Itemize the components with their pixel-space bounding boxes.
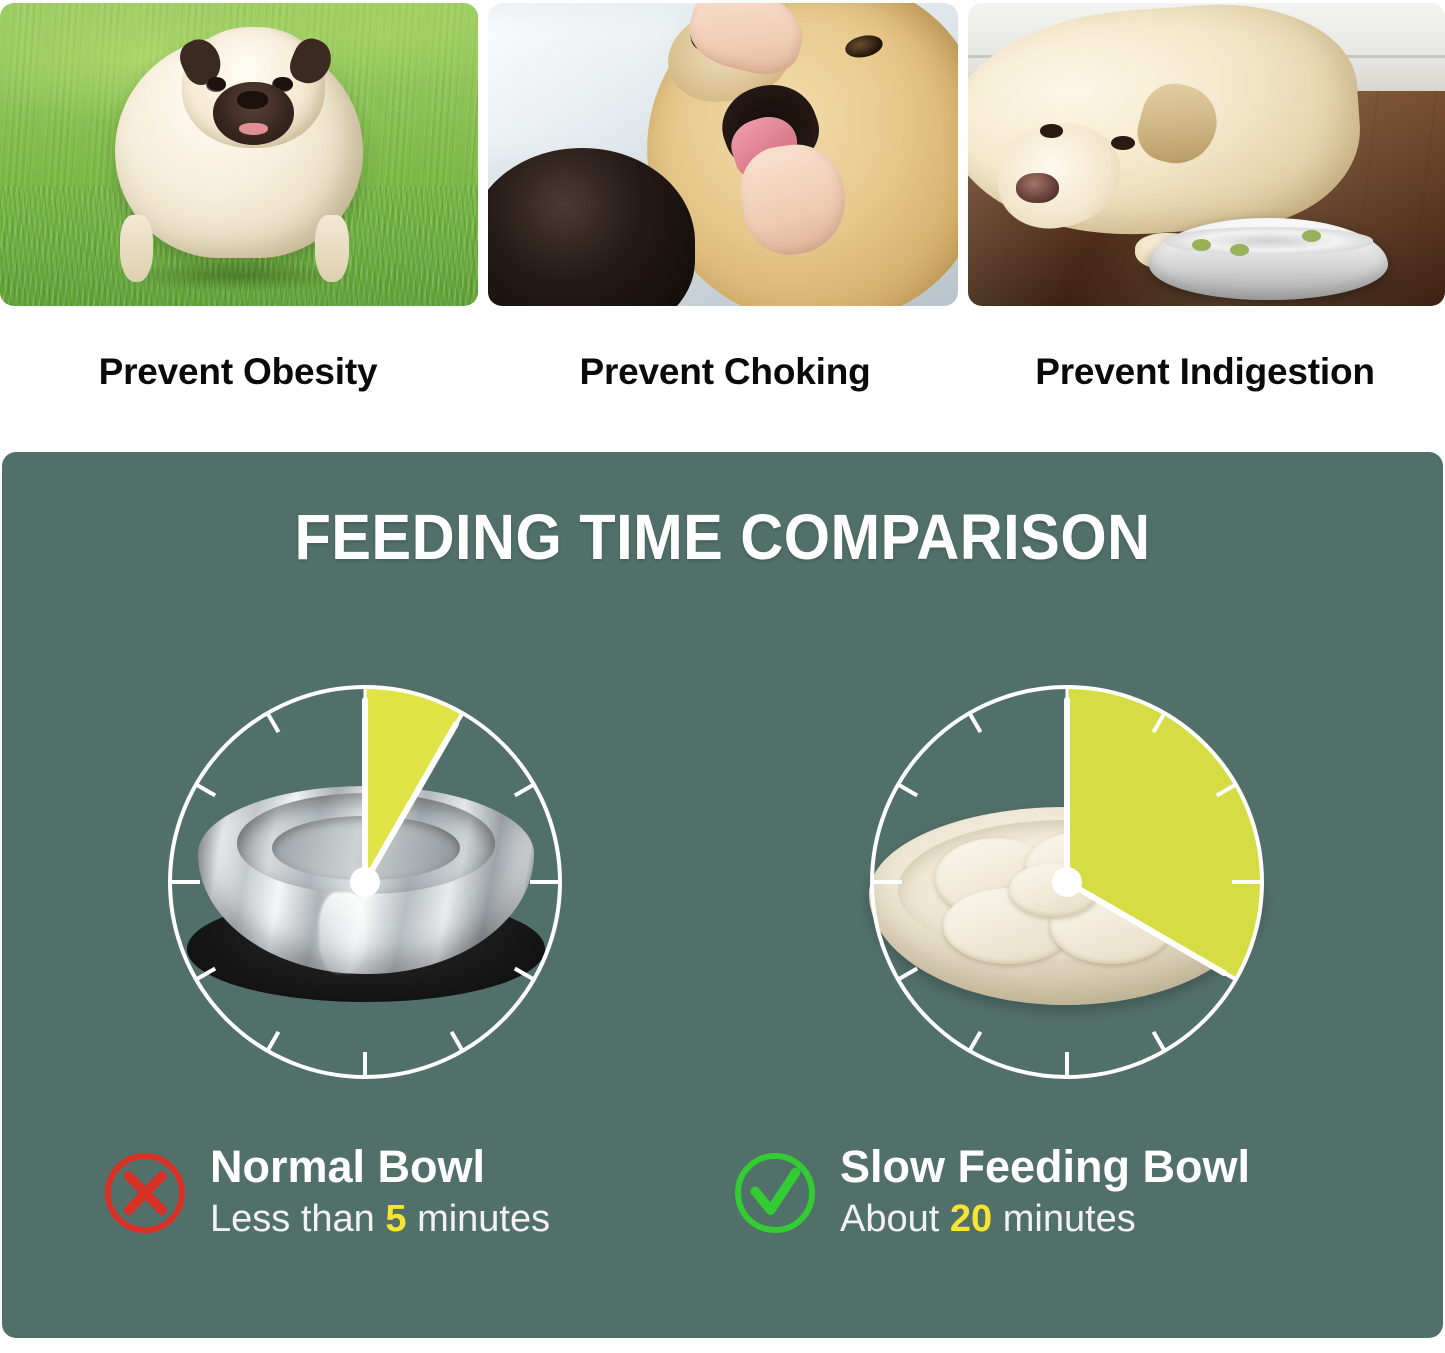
caption-prevent-indigestion: Prevent Indigestion [965, 312, 1445, 432]
pug-nose [237, 91, 268, 109]
labrador-nose [1016, 173, 1059, 203]
legend-title-slow: Slow Feeding Bowl [840, 1142, 1250, 1192]
clock-dial-slow [837, 652, 1297, 1112]
panel-title: FEEDING TIME COMPARISON [52, 500, 1392, 574]
red-x-circle-icon [102, 1150, 188, 1236]
clock-normal-bowl [135, 652, 595, 1112]
clock-slow-feeding-bowl [837, 652, 1297, 1112]
pug-leg-right [315, 215, 348, 282]
photo-overweight-pug-on-grass [0, 3, 478, 306]
product-infographic: Prevent Obesity Prevent Choking Prevent … [0, 0, 1445, 1353]
legend-title-normal: Normal Bowl [210, 1142, 550, 1192]
labrador-eye-right [1111, 136, 1135, 150]
photo-labrador-with-bowl [968, 3, 1445, 306]
legend-normal-bowl: Normal Bowl Less than 5 minutes [102, 1142, 550, 1244]
clock-dial-normal [135, 652, 595, 1112]
legend-subtitle-normal: Less than 5 minutes [210, 1196, 550, 1244]
caption-prevent-choking: Prevent Choking [485, 312, 965, 432]
legend-sub-suffix: minutes [417, 1198, 550, 1240]
legend-sub-prefix: About [840, 1198, 939, 1240]
photo-dog-mouth-check [488, 3, 958, 306]
pug-eye-left [206, 77, 226, 92]
legend-sub-number: 20 [950, 1198, 992, 1240]
pug-tongue [239, 123, 268, 135]
caption-prevent-obesity: Prevent Obesity [0, 312, 478, 432]
pug-leg-left [120, 215, 153, 282]
clock-center-hub [350, 867, 380, 897]
legend-slow-feeding-bowl: Slow Feeding Bowl About 20 minutes [732, 1142, 1250, 1244]
legend-subtitle-slow: About 20 minutes [840, 1196, 1250, 1244]
labrador-eye-left [1040, 124, 1064, 138]
legend-sub-suffix: minutes [1003, 1198, 1136, 1240]
benefit-captions: Prevent Obesity Prevent Choking Prevent … [0, 312, 1445, 432]
feeding-time-comparison-panel: FEEDING TIME COMPARISON [2, 452, 1443, 1338]
benefit-photo-strip [0, 0, 1445, 310]
green-check-circle-icon [732, 1150, 818, 1236]
clock-center-hub [1052, 867, 1082, 897]
comparison-legend: Normal Bowl Less than 5 minutes Slow Fee… [2, 1142, 1443, 1292]
legend-sub-number: 5 [385, 1198, 406, 1240]
clock-comparison-row [2, 652, 1443, 1122]
legend-sub-prefix: Less than [210, 1198, 375, 1240]
